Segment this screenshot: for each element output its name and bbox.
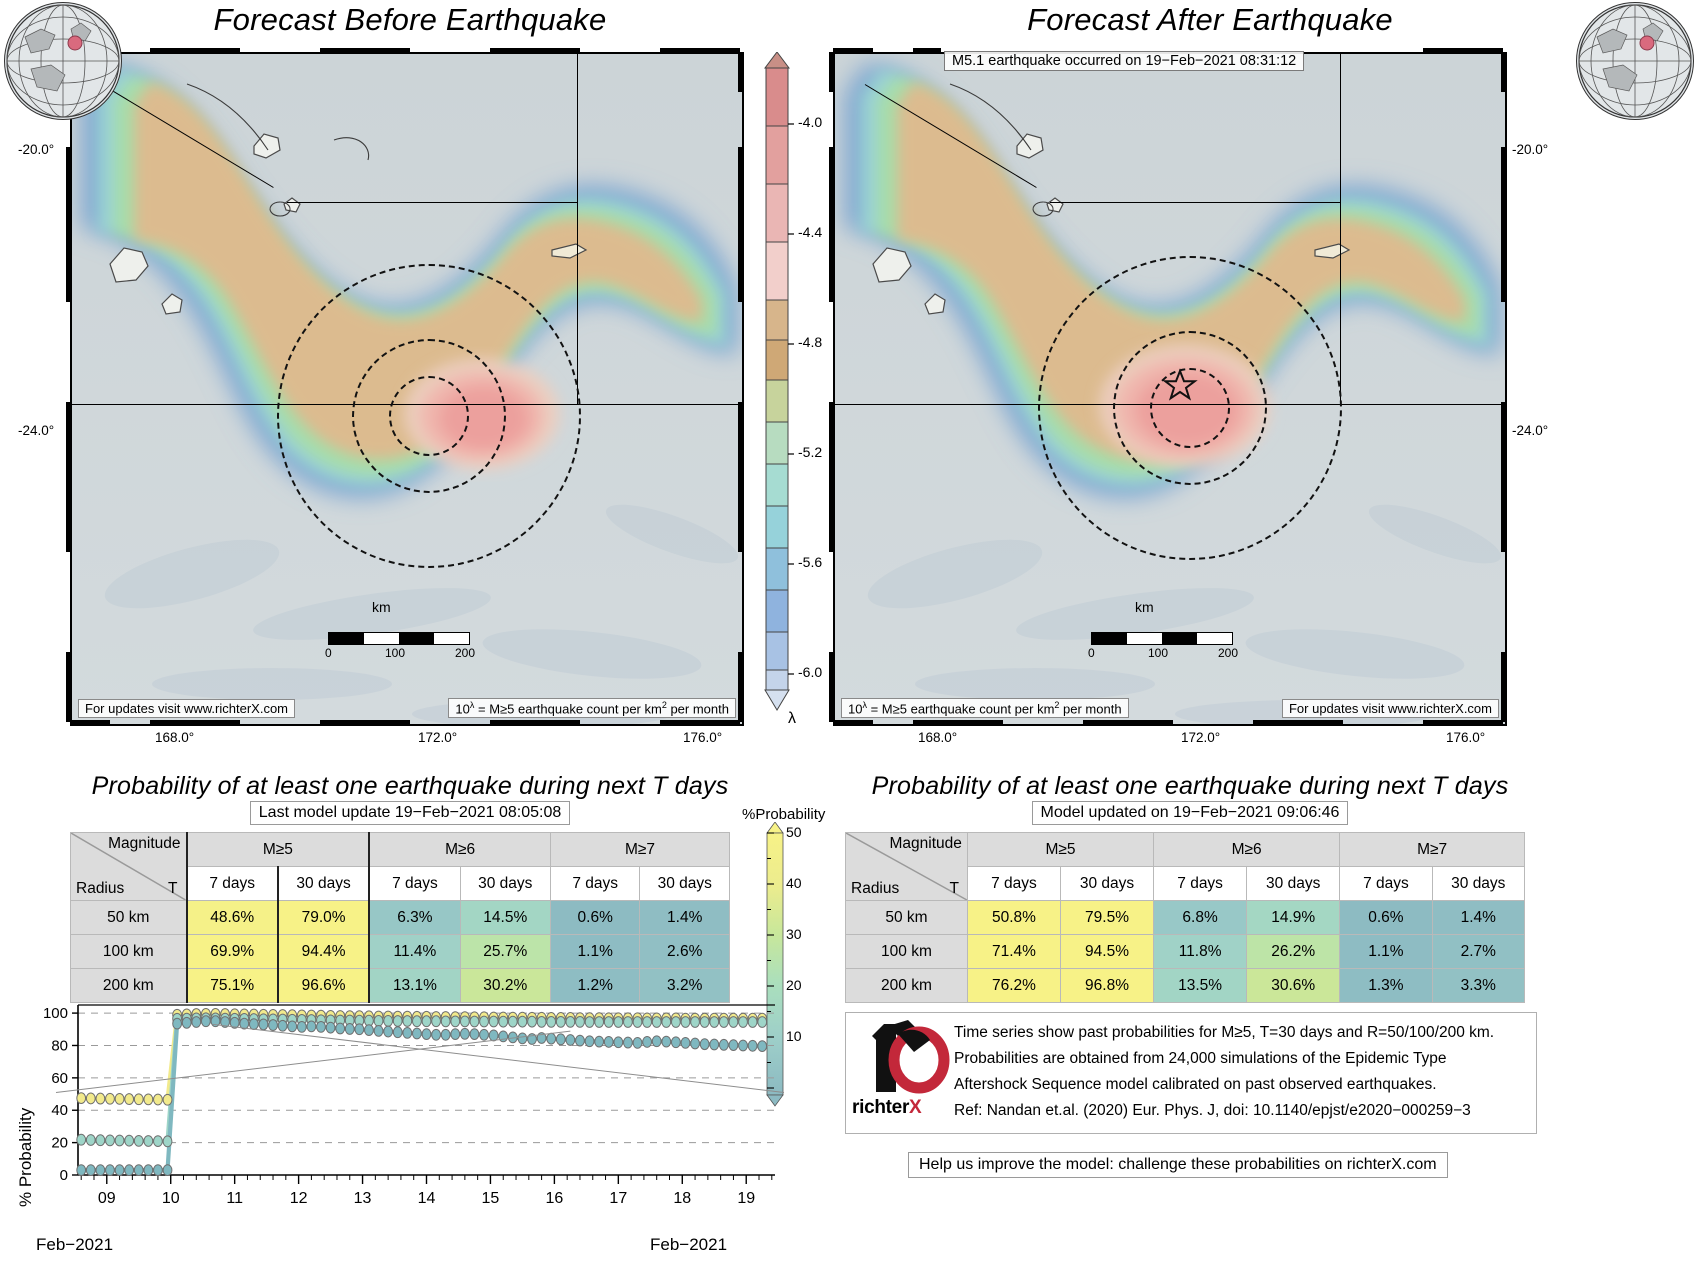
lambda-tick-label-5: -6.0 — [798, 664, 822, 680]
left-scale-bar — [328, 632, 470, 645]
table-corner-cell: Magnitude Radius T — [71, 833, 187, 901]
duration-header-3: 30 days — [1247, 867, 1340, 901]
svg-text:12: 12 — [290, 1190, 308, 1207]
prob-cell: 79.0% — [278, 901, 369, 935]
prob-cell: 25.7% — [460, 935, 550, 969]
svg-text:09: 09 — [98, 1190, 116, 1207]
timeseries-chart[interactable]: 0204060801000910111213141516171819 % Pro… — [0, 985, 790, 1267]
prob-cell: 14.9% — [1247, 901, 1340, 935]
right-scale-tick-0: 0 — [1088, 646, 1095, 660]
svg-text:20: 20 — [51, 1135, 68, 1152]
prob-cell: 1.4% — [1432, 901, 1524, 935]
left-table-subtitle: Last model update 19−Feb−2021 08:05:08 — [250, 801, 570, 825]
left-table-heading: Probability of at least one earthquake d… — [70, 772, 750, 801]
prob-cell: 50.8% — [967, 901, 1060, 935]
info-line-3: Ref: Nandan et.al. (2020) Eur. Phys. J, … — [954, 1098, 1471, 1123]
logo-text-richter: richter — [852, 1097, 909, 1118]
table-header-row-magnitude: Magnitude Radius T M≥5 M≥6 M≥7 — [846, 833, 1525, 867]
left-probability-table[interactable]: Magnitude Radius T M≥5 M≥6 M≥7 7 days 30… — [70, 832, 730, 1003]
left-scale-tick-200: 200 — [455, 646, 475, 660]
prob-cell: 13.5% — [1154, 969, 1247, 1003]
left-lon-label-168: 168.0° — [155, 730, 194, 745]
prob-cell: 11.4% — [369, 935, 460, 969]
duration-header-3: 30 days — [460, 867, 550, 901]
duration-header-2: 7 days — [1154, 867, 1247, 901]
svg-text:60: 60 — [51, 1070, 68, 1087]
table-row: 200 km 76.2% 96.8% 13.5% 30.6% 1.3% 3.3% — [846, 969, 1525, 1003]
magnitude-group-m6: M≥6 — [1154, 833, 1340, 867]
duration-header-5: 30 days — [1432, 867, 1524, 901]
prob-cell: 2.7% — [1432, 935, 1524, 969]
svg-text:11: 11 — [226, 1190, 243, 1207]
svg-text:80: 80 — [51, 1037, 68, 1054]
table-corner-cell: Magnitude Radius T — [846, 833, 968, 901]
prob-cell: 71.4% — [967, 935, 1060, 969]
prob-cell: 3.3% — [1432, 969, 1524, 1003]
probability-tick-label-50: 50 — [786, 824, 802, 840]
right-graticule-lon2 — [1050, 202, 1340, 203]
left-scale-tick-0: 0 — [325, 646, 332, 660]
corner-t-label: T — [949, 880, 958, 898]
logo-text-x: X — [909, 1097, 921, 1118]
right-scale-tick-100: 100 — [1148, 646, 1168, 660]
help-banner[interactable]: Help us improve the model: challenge the… — [908, 1152, 1448, 1178]
info-line-2: Aftershock Sequence model calibrated on … — [954, 1072, 1437, 1097]
probability-colorbar-title: %Probability — [742, 806, 825, 823]
svg-text:40: 40 — [51, 1102, 68, 1119]
svg-text:18: 18 — [673, 1190, 691, 1207]
left-lat-label-24: -24.0° — [18, 423, 54, 438]
left-scale-title: km — [372, 599, 391, 615]
row-radius-label: 100 km — [846, 935, 968, 969]
left-panel-title: Forecast Before Earthquake — [80, 2, 740, 38]
probability-tick-label-30: 30 — [786, 926, 802, 942]
timeseries-x-axis-label-right: Feb−2021 — [650, 1235, 727, 1255]
info-line-1: Probabilities are obtained from 24,000 s… — [954, 1046, 1447, 1071]
left-legend-note: 10λ = M≥5 earthquake count per km2 per m… — [448, 698, 736, 718]
table-row: 50 km 50.8% 79.5% 6.8% 14.9% 0.6% 1.4% — [846, 901, 1525, 935]
duration-header-1: 30 days — [278, 867, 369, 901]
timeseries-y-axis-title: % Probability — [16, 1108, 36, 1207]
lambda-tick-label-1: -4.4 — [798, 224, 822, 240]
lambda-tick-label-3: -5.2 — [798, 444, 822, 460]
prob-cell: 94.5% — [1060, 935, 1153, 969]
magnitude-group-m6: M≥6 — [369, 833, 550, 867]
timeseries-plot: 0204060801000910111213141516171819 — [0, 985, 790, 1267]
prob-cell: 6.3% — [369, 901, 460, 935]
right-lon-label-172: 172.0° — [1181, 730, 1220, 745]
duration-header-0: 7 days — [967, 867, 1060, 901]
svg-text:17: 17 — [609, 1190, 627, 1207]
right-table-subtitle: Model updated on 19−Feb−2021 09:06:46 — [1032, 801, 1349, 825]
left-lon-label-176: 176.0° — [683, 730, 722, 745]
radius-circle-50km — [1150, 368, 1230, 448]
row-radius-label: 100 km — [71, 935, 187, 969]
prob-cell: 30.6% — [1247, 969, 1340, 1003]
svg-text:15: 15 — [482, 1190, 500, 1207]
right-credit[interactable]: For updates visit www.richterX.com — [1282, 699, 1499, 718]
corner-radius-label: Radius — [76, 880, 124, 898]
lambda-colorbar — [760, 52, 794, 712]
right-probability-table[interactable]: Magnitude Radius T M≥5 M≥6 M≥7 7 days 30… — [845, 832, 1525, 1003]
prob-cell: 26.2% — [1247, 935, 1340, 969]
prob-cell: 11.8% — [1154, 935, 1247, 969]
table-row: 100 km 71.4% 94.5% 11.8% 26.2% 1.1% 2.7% — [846, 935, 1525, 969]
prob-cell: 69.9% — [187, 935, 278, 969]
right-graticule-lon — [1340, 54, 1341, 404]
right-lat-label-20: -20.0° — [1512, 142, 1548, 157]
duration-header-5: 30 days — [640, 867, 730, 901]
left-scale-tick-100: 100 — [385, 646, 405, 660]
svg-text:0: 0 — [60, 1167, 68, 1184]
prob-cell: 0.6% — [1340, 901, 1432, 935]
prob-cell: 94.4% — [278, 935, 369, 969]
right-scale-title: km — [1135, 599, 1154, 615]
left-inset-globe — [4, 2, 122, 120]
probability-tick-label-40: 40 — [786, 875, 802, 891]
row-radius-label: 50 km — [846, 901, 968, 935]
prob-cell: 14.5% — [460, 901, 550, 935]
left-lon-label-172: 172.0° — [418, 730, 457, 745]
corner-t-label: T — [168, 880, 177, 898]
corner-magnitude-label: Magnitude — [890, 835, 962, 853]
right-panel-title: Forecast After Earthquake — [880, 2, 1540, 38]
right-scale-bar — [1091, 632, 1233, 645]
right-lon-label-176: 176.0° — [1446, 730, 1485, 745]
prob-cell: 6.8% — [1154, 901, 1247, 935]
right-scale-tick-200: 200 — [1218, 646, 1238, 660]
duration-header-1: 30 days — [1060, 867, 1153, 901]
right-lat-label-24: -24.0° — [1512, 423, 1548, 438]
table-row: 100 km 69.9% 94.4% 11.4% 25.7% 1.1% 2.6% — [71, 935, 730, 969]
duration-header-2: 7 days — [369, 867, 460, 901]
prob-cell: 2.6% — [640, 935, 730, 969]
prob-cell: 1.3% — [1340, 969, 1432, 1003]
svg-text:10: 10 — [162, 1190, 180, 1207]
right-lon-label-168: 168.0° — [918, 730, 957, 745]
lambda-tick-label-2: -4.8 — [798, 334, 822, 350]
magnitude-group-m7: M≥7 — [550, 833, 729, 867]
svg-text:19: 19 — [737, 1190, 755, 1207]
magnitude-group-m5: M≥5 — [967, 833, 1153, 867]
table-header-row-magnitude: Magnitude Radius T M≥5 M≥6 M≥7 — [71, 833, 730, 867]
magnitude-group-m5: M≥5 — [187, 833, 370, 867]
magnitude-group-m7: M≥7 — [1340, 833, 1525, 867]
richterx-logo-icon — [862, 1018, 950, 1103]
left-graticule-lon — [577, 54, 578, 404]
table-row: 50 km 48.6% 79.0% 6.3% 14.5% 0.6% 1.4% — [71, 901, 730, 935]
earthquake-event-banner: M5.1 earthquake occurred on 19−Feb−2021 … — [944, 51, 1304, 71]
prob-cell: 96.8% — [1060, 969, 1153, 1003]
prob-cell: 1.1% — [1340, 935, 1432, 969]
duration-header-4: 7 days — [550, 867, 640, 901]
row-radius-label: 50 km — [71, 901, 187, 935]
right-legend-note: 10λ = M≥5 earthquake count per km2 per m… — [841, 698, 1129, 718]
prob-cell: 76.2% — [967, 969, 1060, 1003]
svg-text:16: 16 — [545, 1190, 563, 1207]
svg-text:14: 14 — [418, 1190, 436, 1207]
left-lat-label-20: -20.0° — [18, 142, 54, 157]
lambda-tick-label-0: -4.0 — [798, 114, 822, 130]
lambda-tick-label-4: -5.6 — [798, 554, 822, 570]
row-radius-label: 200 km — [846, 969, 968, 1003]
corner-radius-label: Radius — [851, 880, 899, 898]
duration-header-0: 7 days — [187, 867, 278, 901]
prob-cell: 79.5% — [1060, 901, 1153, 935]
right-table-heading: Probability of at least one earthquake d… — [845, 772, 1535, 801]
prob-cell: 48.6% — [187, 901, 278, 935]
prob-cell: 1.1% — [550, 935, 640, 969]
prob-cell: 1.4% — [640, 901, 730, 935]
corner-magnitude-label: Magnitude — [108, 835, 180, 853]
right-map[interactable]: km 0 100 200 10λ = M≥5 earthquake count … — [833, 52, 1507, 726]
lambda-axis-label: λ — [788, 710, 796, 728]
left-map[interactable]: km 0 100 200 For updates visit www.richt… — [70, 52, 744, 726]
timeseries-x-axis-label-left: Feb−2021 — [36, 1235, 113, 1255]
prob-cell: 0.6% — [550, 901, 640, 935]
duration-header-4: 7 days — [1340, 867, 1432, 901]
richterx-wordmark: richterX — [852, 1097, 921, 1119]
info-line-0: Time series show past probabilities for … — [954, 1020, 1494, 1045]
right-inset-globe — [1576, 2, 1694, 120]
lambda-colorbar-group: -4.0 -4.4 -4.8 -5.2 -5.6 -6.0 λ — [760, 52, 794, 717]
left-graticule-lon2 — [287, 202, 577, 203]
svg-text:13: 13 — [354, 1190, 372, 1207]
left-credit[interactable]: For updates visit www.richterX.com — [78, 699, 295, 718]
radius-circle-50km — [389, 376, 469, 456]
svg-text:100: 100 — [43, 1005, 68, 1022]
